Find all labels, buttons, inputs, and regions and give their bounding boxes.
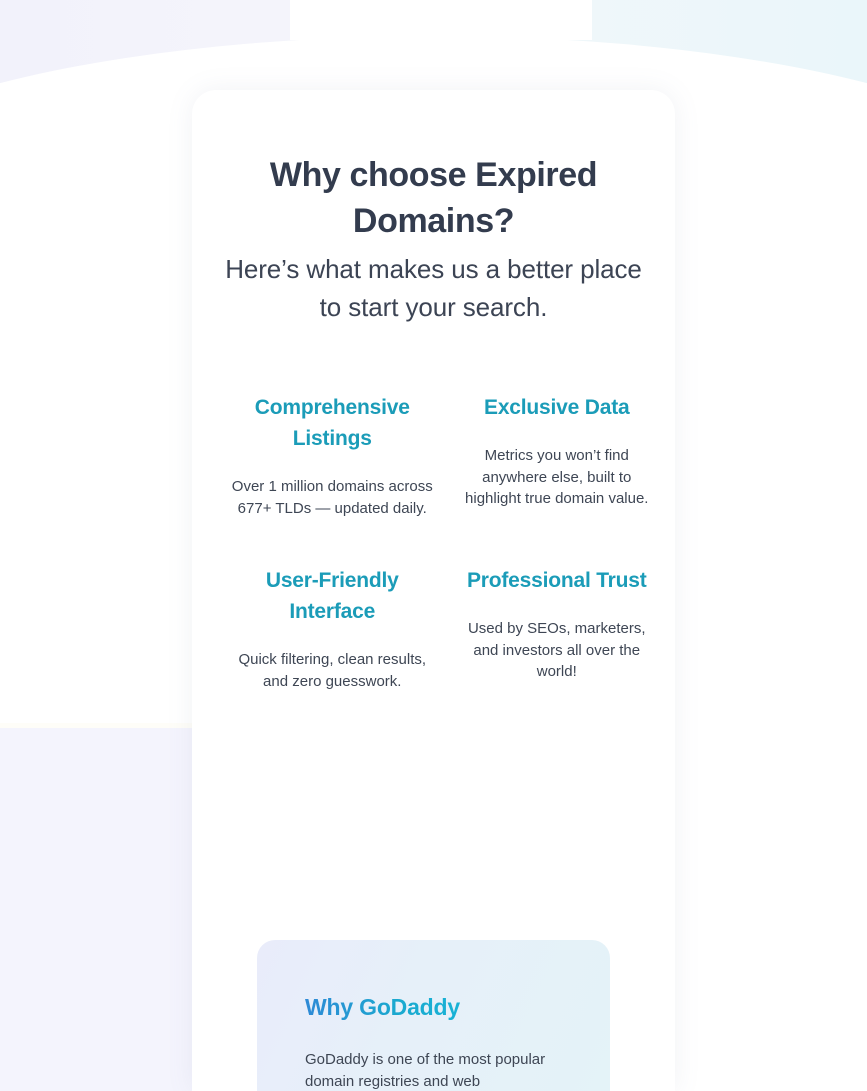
feature-description: Metrics you won’t find anywhere else, bu… — [453, 445, 662, 510]
features-grid: Comprehensive Listings Over 1 million do… — [192, 392, 675, 692]
page-subtitle: Here’s what makes us a better place to s… — [220, 250, 647, 326]
feature-title: Comprehensive Listings — [228, 392, 437, 454]
feature-description: Over 1 million domains across 677+ TLDs … — [228, 476, 437, 519]
feature-card-exclusive-data: Exclusive Data Metrics you won’t find an… — [445, 392, 670, 519]
feature-card-user-friendly-interface: User-Friendly Interface Quick filtering,… — [220, 565, 445, 692]
top-white-block — [290, 0, 592, 40]
feature-card-professional-trust: Professional Trust Used by SEOs, markete… — [445, 565, 670, 692]
hero-heading-block: Why choose Expired Domains? Here’s what … — [192, 90, 675, 326]
feature-description: Used by SEOs, marketers, and investors a… — [453, 618, 662, 683]
feature-card-comprehensive-listings: Comprehensive Listings Over 1 million do… — [220, 392, 445, 519]
why-godaddy-title: Why GoDaddy — [305, 994, 460, 1021]
why-godaddy-body: GoDaddy is one of the most popular domai… — [305, 1049, 566, 1091]
page-title: Why choose Expired Domains? — [220, 152, 647, 244]
feature-title: Exclusive Data — [453, 392, 662, 423]
feature-title: Professional Trust — [453, 565, 662, 596]
feature-description: Quick filtering, clean results, and zero… — [228, 649, 437, 692]
landing-page: Why choose Expired Domains? Here’s what … — [0, 0, 867, 1091]
lower-left-lavender-block — [0, 728, 193, 1091]
why-godaddy-panel: Why GoDaddy GoDaddy is one of the most p… — [257, 940, 610, 1091]
why-choose-section-card: Why choose Expired Domains? Here’s what … — [192, 90, 675, 1091]
feature-title: User-Friendly Interface — [228, 565, 437, 627]
